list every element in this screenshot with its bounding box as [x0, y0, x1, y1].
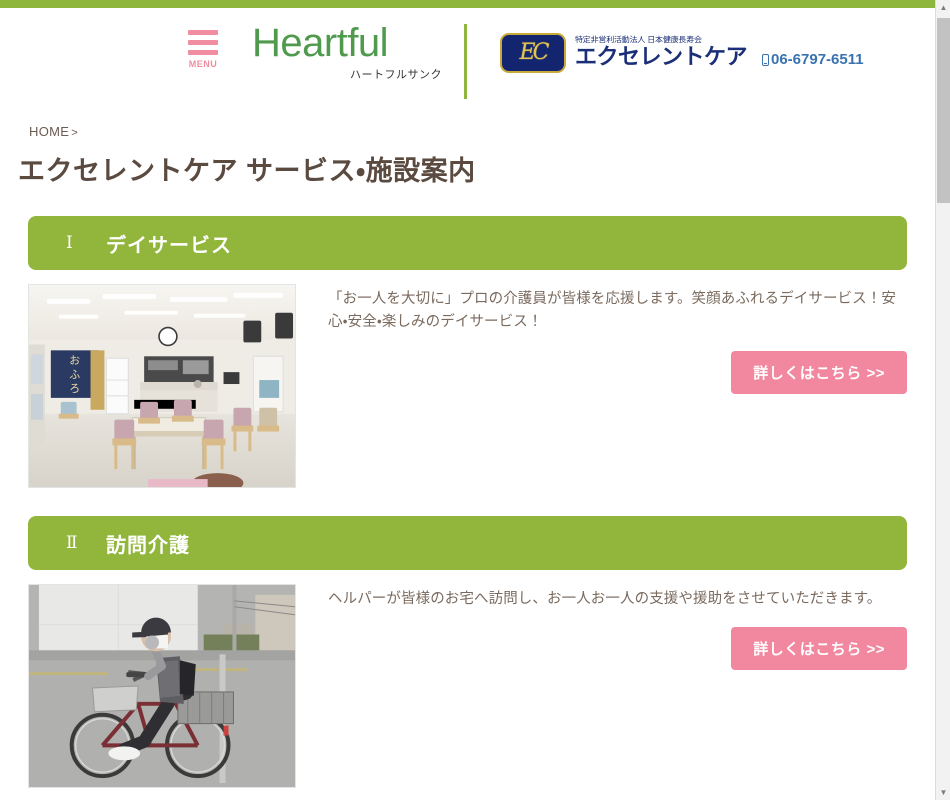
brand-subtitle: ハートフルサンク — [252, 66, 442, 82]
crest-emblem-icon: EC — [500, 33, 566, 73]
section-right-1: 「お一人を大切に」プロの介護員が皆様を応援します。笑顔あふれるデイサービス！安心… — [328, 284, 907, 394]
section-description-1: 「お一人を大切に」プロの介護員が皆様を応援します。笑顔あふれるデイサービス！安心… — [328, 288, 907, 335]
crest-monogram: EC — [520, 42, 547, 64]
menu-button[interactable]: MENU — [186, 30, 220, 69]
service-section-2: Ⅱ 訪問介護 — [0, 516, 935, 788]
menu-button-label: MENU — [186, 59, 220, 69]
organization-text: 特定非営利活動法人 日本健康長寿会 エクセレントケア — [575, 36, 747, 70]
page-root: MENU Heartful ハートフルサンク EC 特定非営利活動法人 日本健康… — [0, 0, 950, 800]
service-section-1: Ⅰ デイサービス — [0, 216, 935, 488]
scroll-down-arrow-icon[interactable]: ▼ — [936, 785, 950, 800]
details-button-2[interactable]: 詳しくはこちら >> — [731, 627, 907, 670]
scrollbar-thumb[interactable] — [937, 18, 950, 203]
details-button-1[interactable]: 詳しくはこちら >> — [731, 351, 907, 394]
breadcrumb-home-link[interactable]: HOME — [29, 124, 69, 139]
section-title-2: 訪問介護 — [106, 529, 190, 558]
section-body-2: ヘルパーが皆様のお宅へ訪問し、お一人お一人の支援や援助をさせていただきます。 詳… — [28, 584, 907, 788]
section-body-1: おふろ — [28, 284, 907, 488]
vertical-scrollbar[interactable]: ▲ ▼ — [935, 0, 950, 800]
section-description-2: ヘルパーが皆様のお宅へ訪問し、お一人お一人の支援や援助をさせていただきます。 — [328, 588, 907, 611]
section-right-2: ヘルパーが皆様のお宅へ訪問し、お一人お一人の支援や援助をさせていただきます。 詳… — [328, 584, 907, 670]
section-photo-1[interactable]: おふろ — [28, 284, 296, 488]
day-service-room-image: おふろ — [29, 285, 295, 487]
svg-text:お: お — [69, 354, 80, 367]
section-header-1: Ⅰ デイサービス — [28, 216, 907, 270]
organization-name: エクセレントケア — [575, 46, 747, 70]
brand-logo[interactable]: Heartful ハートフルサンク — [252, 22, 442, 82]
section-number-2: Ⅱ — [66, 533, 106, 553]
helper-on-bicycle-image — [29, 585, 295, 787]
telephone-link[interactable]: 06-6797-6511 — [762, 51, 864, 68]
phone-icon — [762, 54, 769, 66]
organization-logo[interactable]: EC 特定非営利活動法人 日本健康長寿会 エクセレントケア — [500, 33, 747, 73]
telephone-number: 06-6797-6511 — [771, 51, 864, 68]
section-button-wrap-1: 詳しくはこちら >> — [328, 351, 907, 394]
section-title-1: デイサービス — [106, 229, 232, 258]
site-header: MENU Heartful ハートフルサンク EC 特定非営利活動法人 日本健康… — [0, 8, 935, 104]
organization-legal-name: 特定非営利活動法人 日本健康長寿会 — [575, 36, 747, 44]
scroll-up-arrow-icon[interactable]: ▲ — [936, 0, 950, 15]
section-header-2: Ⅱ 訪問介護 — [28, 516, 907, 570]
top-green-strip — [0, 0, 935, 8]
breadcrumb-separator: > — [71, 127, 78, 139]
svg-text:ふ: ふ — [69, 368, 80, 381]
page-title: エクセレントケア サービス・施設案内 — [18, 149, 935, 188]
section-photo-2[interactable] — [28, 584, 296, 788]
hamburger-icon — [188, 30, 218, 55]
main-content: HOME> エクセレントケア サービス・施設案内 Ⅰ デイサービス — [0, 104, 935, 788]
svg-text:ろ: ろ — [69, 383, 80, 395]
brand-name: Heartful — [252, 22, 442, 64]
breadcrumb: HOME> — [29, 124, 935, 139]
section-button-wrap-2: 詳しくはこちら >> — [328, 627, 907, 670]
header-divider — [464, 24, 467, 99]
section-number-1: Ⅰ — [66, 233, 106, 253]
